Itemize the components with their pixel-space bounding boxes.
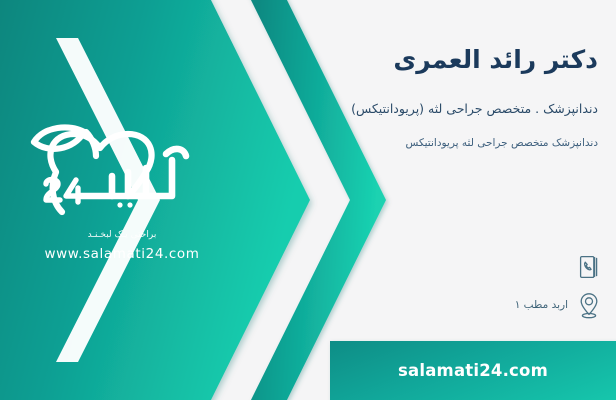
footer-bar[interactable]: salamati24.com — [330, 341, 616, 400]
doctor-info-panel: دکتر رائد العمری دندانپزشک . متخصص جراحی… — [308, 0, 616, 400]
address-contact-label: اربد مطب ۱ — [515, 299, 568, 311]
brand-logo: براحتی یـک لبخـنـد www.salamati24.com — [16, 112, 228, 272]
location-pin-icon[interactable] — [576, 290, 602, 320]
apple-outline-icon — [16, 112, 228, 224]
address-contact[interactable]: اربد مطب ۱ — [515, 290, 602, 320]
footer-website: salamati24.com — [398, 361, 548, 380]
doctor-specialty-primary: دندانپزشک . متخصص جراحی لثه (پریودانتیکس… — [312, 100, 598, 118]
doctor-specialty-secondary: دندانپزشک متخصص جراحی لثه پریودانتیکس — [312, 136, 598, 151]
phonebook-icon[interactable] — [576, 252, 602, 282]
doctor-profile-card: براحتی یـک لبخـنـد www.salamati24.com دک… — [0, 0, 616, 400]
doctor-name: دکتر رائد العمری — [312, 46, 598, 75]
phone-contact[interactable] — [568, 252, 602, 282]
brand-slogan: براحتی یـک لبخـنـد — [16, 230, 228, 240]
brand-website-logo: www.salamati24.com — [16, 246, 228, 262]
